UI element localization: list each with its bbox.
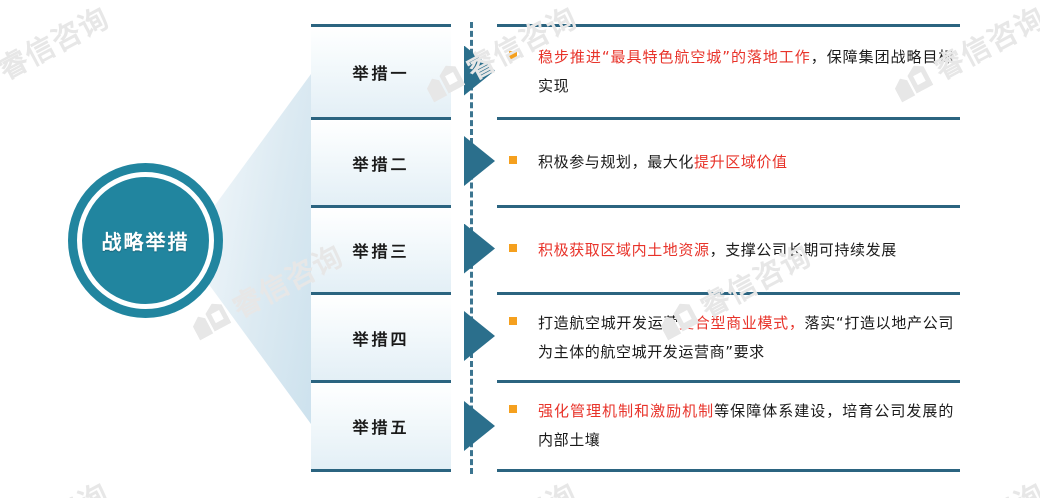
measure-content-inner: 积极获取区域内土地资源，支撑公司长期可持续发展 — [497, 236, 903, 265]
content-segment: 强化管理机制和激励机制 — [538, 402, 714, 420]
content-segment: 复合型商业模式， — [679, 314, 804, 332]
measure-label-text: 举措五 — [352, 414, 409, 438]
measure-content-cell[interactable]: 稳步推进“最具特色航空城”的落地工作，保障集团战略目标实现 — [497, 24, 960, 117]
content-segment: 打造航空城开发运营 — [538, 314, 679, 332]
measure-label-text: 举措四 — [352, 326, 409, 350]
measure-content-column: 稳步推进“最具特色航空城”的落地工作，保障集团战略目标实现积极参与规划，最大化提… — [497, 24, 960, 472]
measure-content-cell[interactable]: 积极获取区域内土地资源，支撑公司长期可持续发展 — [497, 205, 960, 292]
square-bullet-icon — [509, 244, 517, 252]
square-bullet-icon — [509, 156, 517, 164]
measure-label-cell[interactable]: 举措二 — [311, 117, 451, 205]
measure-label-cell[interactable]: 举措三 — [311, 205, 451, 292]
right-triangle-icon — [464, 136, 495, 186]
content-segment: 积极获取区域内土地资源 — [538, 241, 710, 259]
measure-label-text: 举措三 — [352, 238, 409, 262]
strategy-measures-diagram: 战略举措 举措一举措二举措三举措四举措五 稳步推进“最具特色航空城”的落地工作，… — [0, 0, 1040, 498]
measure-content-inner: 稳步推进“最具特色航空城”的落地工作，保障集团战略目标实现 — [497, 43, 960, 101]
measure-label-cell[interactable]: 举措一 — [311, 24, 451, 117]
content-segment: 提升区域价值 — [694, 153, 788, 171]
content-segment: 稳步推进“最具特色航空城”的落地工作 — [538, 48, 811, 66]
measure-label-cell[interactable]: 举措四 — [311, 292, 451, 380]
content-segment: 积极参与规划，最大化 — [538, 153, 694, 171]
content-segment: ，支撑公司长期可持续发展 — [710, 241, 897, 259]
measure-label-column: 举措一举措二举措三举措四举措五 — [311, 24, 451, 472]
measure-label-text: 举措二 — [352, 151, 409, 175]
square-bullet-icon — [509, 317, 517, 325]
measure-content-inner: 打造航空城开发运营复合型商业模式，落实“打造以地产公司为主体的航空城开发运营商”… — [497, 309, 960, 367]
measure-content-text: 稳步推进“最具特色航空城”的落地工作，保障集团战略目标实现 — [538, 43, 954, 101]
measure-label-text: 举措一 — [352, 60, 409, 84]
square-bullet-icon — [509, 51, 517, 59]
measure-content-cell[interactable]: 打造航空城开发运营复合型商业模式，落实“打造以地产公司为主体的航空城开发运营商”… — [497, 292, 960, 380]
measure-content-text: 打造航空城开发运营复合型商业模式，落实“打造以地产公司为主体的航空城开发运营商”… — [538, 309, 954, 367]
measure-content-cell[interactable]: 强化管理机制和激励机制等保障体系建设，培育公司发展的内部土壤 — [497, 380, 960, 472]
measure-label-cell[interactable]: 举措五 — [311, 380, 451, 472]
measure-content-cell[interactable]: 积极参与规划，最大化提升区域价值 — [497, 117, 960, 205]
right-triangle-icon — [464, 224, 495, 274]
measure-content-inner: 强化管理机制和激励机制等保障体系建设，培育公司发展的内部土壤 — [497, 397, 960, 455]
center-circle: 战略举措 — [68, 163, 223, 318]
right-triangle-icon — [464, 311, 495, 361]
center-circle-label: 战略举措 — [102, 226, 190, 255]
right-triangle-icon — [464, 401, 495, 451]
measure-content-text: 积极参与规划，最大化提升区域价值 — [538, 148, 788, 177]
measure-content-text: 强化管理机制和激励机制等保障体系建设，培育公司发展的内部土壤 — [538, 397, 954, 455]
measure-content-inner: 积极参与规划，最大化提升区域价值 — [497, 148, 794, 177]
square-bullet-icon — [509, 405, 517, 413]
measure-content-text: 积极获取区域内土地资源，支撑公司长期可持续发展 — [538, 236, 897, 265]
right-triangle-icon — [464, 46, 495, 96]
